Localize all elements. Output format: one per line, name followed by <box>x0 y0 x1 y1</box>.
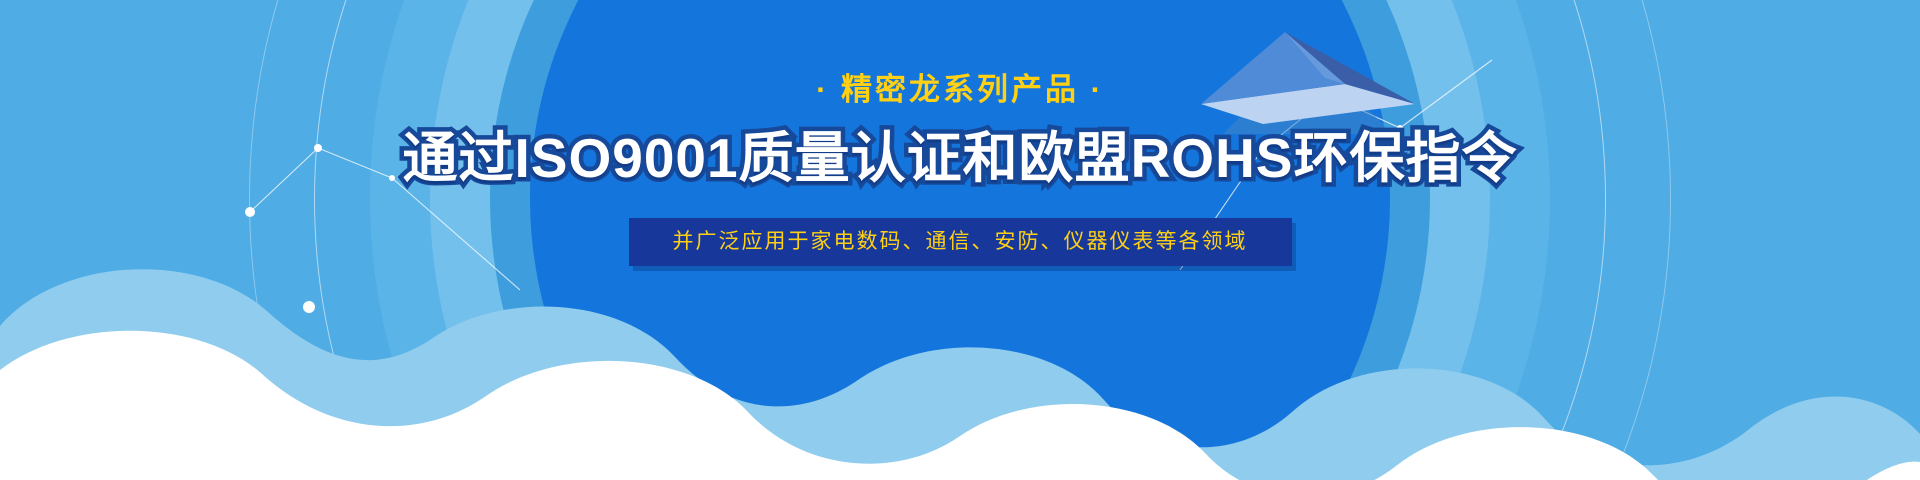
banner-headline-wrap: 通过ISO9001质量认证和欧盟ROHS环保指令 <box>402 131 1517 186</box>
banner-eyebrow: · 精密龙系列产品 · <box>816 74 1104 105</box>
promotional-banner: · 精密龙系列产品 · 通过ISO9001质量认证和欧盟ROHS环保指令 并广泛… <box>0 0 1920 480</box>
banner-subtitle-box: 并广泛应用于家电数码、通信、安防、仪器仪表等各领域 <box>629 218 1292 266</box>
banner-subtitle: 并广泛应用于家电数码、通信、安防、仪器仪表等各领域 <box>673 231 1248 252</box>
banner-content: · 精密龙系列产品 · 通过ISO9001质量认证和欧盟ROHS环保指令 并广泛… <box>0 0 1920 480</box>
banner-headline: 通过ISO9001质量认证和欧盟ROHS环保指令 <box>402 131 1517 186</box>
